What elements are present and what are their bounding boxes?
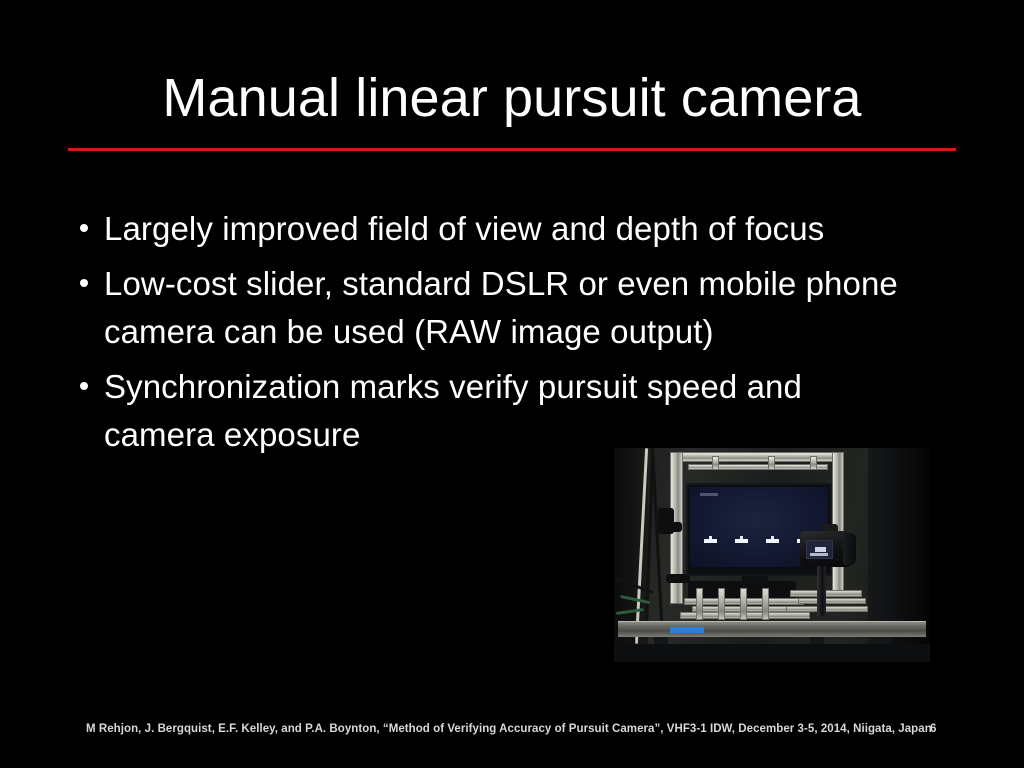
frame-rail-top-inner xyxy=(688,464,828,470)
presentation-slide: Manual linear pursuit camera Largely imp… xyxy=(0,0,1024,768)
sync-mark-bar xyxy=(704,539,717,543)
page-title: Manual linear pursuit camera xyxy=(0,66,1024,130)
footer-citation: M Rehjon, J. Bergquist, E.F. Kelley, and… xyxy=(86,723,932,735)
camera-mount-post xyxy=(817,566,826,616)
frame-rail-top xyxy=(674,452,844,462)
lab-photo-linear-pursuit-camera-rig xyxy=(614,448,930,662)
carriage-rib xyxy=(762,588,769,620)
list-item-text: Largely improved field of view and depth… xyxy=(104,205,899,253)
bullet-dot-icon xyxy=(80,224,88,232)
list-item: Largely improved field of view and depth… xyxy=(72,205,932,253)
slide-number: 6 xyxy=(930,723,936,735)
carriage-rib xyxy=(718,588,725,620)
list-item-text: Synchronization marks verify pursuit spe… xyxy=(104,363,899,459)
bullet-dot-icon xyxy=(80,382,88,390)
photo-foreground-shadow xyxy=(614,644,930,662)
carriage-rib xyxy=(740,588,747,620)
carriage-plate-right xyxy=(790,590,862,597)
frame-bracket-left-arm xyxy=(660,522,682,532)
sync-mark-bar xyxy=(735,539,748,543)
carriage-rib xyxy=(696,588,703,620)
bullet-dot-icon xyxy=(80,279,88,287)
sync-mark xyxy=(766,536,779,543)
carriage-plate-right xyxy=(786,606,868,612)
camera-grip xyxy=(843,533,856,565)
bullet-list: Largely improved field of view and depth… xyxy=(72,205,932,459)
list-item: Synchronization marks verify pursuit spe… xyxy=(72,363,932,459)
sync-mark-bar xyxy=(766,539,779,543)
sync-mark xyxy=(704,536,717,543)
camera-lcd-sync-mark xyxy=(815,547,826,552)
list-item: Low-cost slider, standard DSLR or even m… xyxy=(72,260,932,356)
rail-sticker xyxy=(670,627,704,633)
linear-slider-rail xyxy=(618,621,926,637)
frame-clamp xyxy=(768,456,775,470)
frame-post-right xyxy=(832,452,844,592)
title-divider-rule xyxy=(68,148,956,151)
list-item-text: Low-cost slider, standard DSLR or even m… xyxy=(104,260,899,356)
sync-mark xyxy=(735,536,748,543)
camera-lcd-bar xyxy=(810,553,828,556)
carriage-plate-right xyxy=(798,598,866,604)
frame-clamp xyxy=(810,456,817,470)
camera-lcd-screen xyxy=(806,540,833,559)
title-block: Manual linear pursuit camera xyxy=(0,66,1024,130)
frame-clamp xyxy=(712,456,719,470)
monitor-osd-label xyxy=(700,493,718,496)
